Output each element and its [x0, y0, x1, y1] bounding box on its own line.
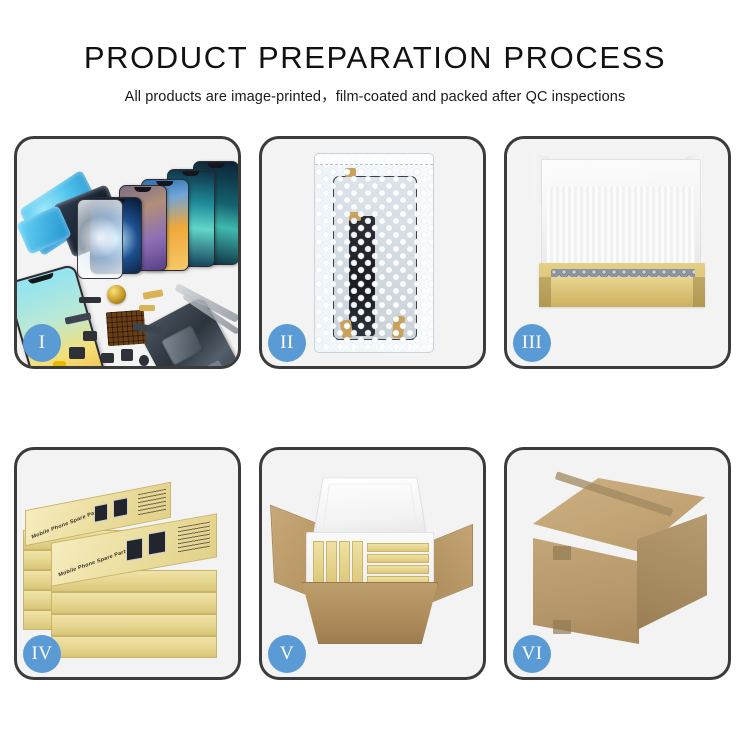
kraft-box-stack-icon: Mobile Phone Spare Parts Mobile Phone Sp… [23, 472, 235, 662]
screen-thumbnail-icon [126, 537, 143, 561]
step-badge-1: I [23, 324, 61, 362]
bag-seal-icon [315, 154, 433, 165]
process-step-panel-3: III [504, 136, 731, 369]
box-spec-lines-icon [178, 522, 210, 554]
yellow-box-icon [367, 565, 429, 574]
process-step-panel-6: VI [504, 447, 731, 680]
foam-insert-icon [306, 532, 434, 588]
foam-sheet-icon [547, 187, 695, 273]
step-badge-4: IV [23, 635, 61, 673]
bubble-wrap-texture-icon [315, 154, 433, 352]
clear-plastic-bag-icon [314, 153, 434, 353]
battery-part-icon [53, 361, 66, 366]
process-step-panel-1: I [14, 136, 241, 369]
step-badge-5: V [268, 635, 306, 673]
yellow-box-icon [367, 554, 429, 563]
carton-front-face-icon [533, 538, 639, 644]
small-part-icon [101, 353, 114, 363]
page-subtitle: All products are image-printed，film-coat… [0, 85, 750, 106]
screen-thumbnail-icon [94, 503, 108, 523]
carton-tape-icon [553, 620, 571, 634]
product-preparation-infographic: PRODUCT PREPARATION PROCESS All products… [0, 0, 750, 750]
box-corner-icon [539, 277, 551, 307]
process-steps-grid: I II [14, 136, 741, 682]
notch-icon [156, 181, 173, 186]
camera-lens-icon [139, 355, 149, 366]
foam-lid-open-icon [312, 477, 427, 538]
yellow-box-icon [367, 543, 429, 552]
box-label-text: Mobile Phone Spare Parts [58, 548, 129, 578]
notch-icon [134, 187, 151, 192]
process-step-panel-5: V [259, 447, 486, 680]
notch-icon [208, 163, 225, 168]
step-badge-6: VI [513, 635, 551, 673]
tempered-glass-icon [77, 199, 123, 279]
carton-body-icon [302, 582, 438, 644]
notch-icon [28, 273, 54, 285]
kraft-box-front-icon [539, 277, 705, 307]
step-badge-2: II [268, 324, 306, 362]
small-part-icon [69, 347, 85, 359]
kraft-box-icon [51, 636, 217, 658]
box-corner-icon [693, 277, 705, 307]
process-step-panel-4: Mobile Phone Spare Parts Mobile Phone Sp… [14, 447, 241, 680]
process-step-panel-2: II [259, 136, 486, 369]
yellow-box-icon [352, 541, 363, 583]
connector-part-icon [79, 297, 101, 303]
screen-thumbnail-icon [148, 530, 166, 555]
gold-contact-icon [139, 305, 155, 311]
yellow-box-icon [313, 541, 324, 583]
box-spec-lines-icon [138, 489, 166, 516]
page-title: PRODUCT PREPARATION PROCESS [0, 40, 750, 76]
screen-thumbnail-icon [113, 497, 128, 518]
header: PRODUCT PREPARATION PROCESS All products… [0, 0, 750, 106]
small-part-icon [83, 331, 97, 341]
yellow-box-icon [326, 541, 337, 583]
notch-icon [182, 171, 199, 176]
gold-contact-icon [143, 289, 164, 299]
kraft-box-icon [51, 614, 217, 636]
carton-tape-icon [553, 546, 571, 560]
kraft-box-icon [51, 592, 217, 614]
small-part-icon [121, 349, 133, 361]
step-badge-3: III [513, 324, 551, 362]
speaker-module-icon [107, 285, 126, 304]
yellow-box-icon [339, 541, 350, 583]
